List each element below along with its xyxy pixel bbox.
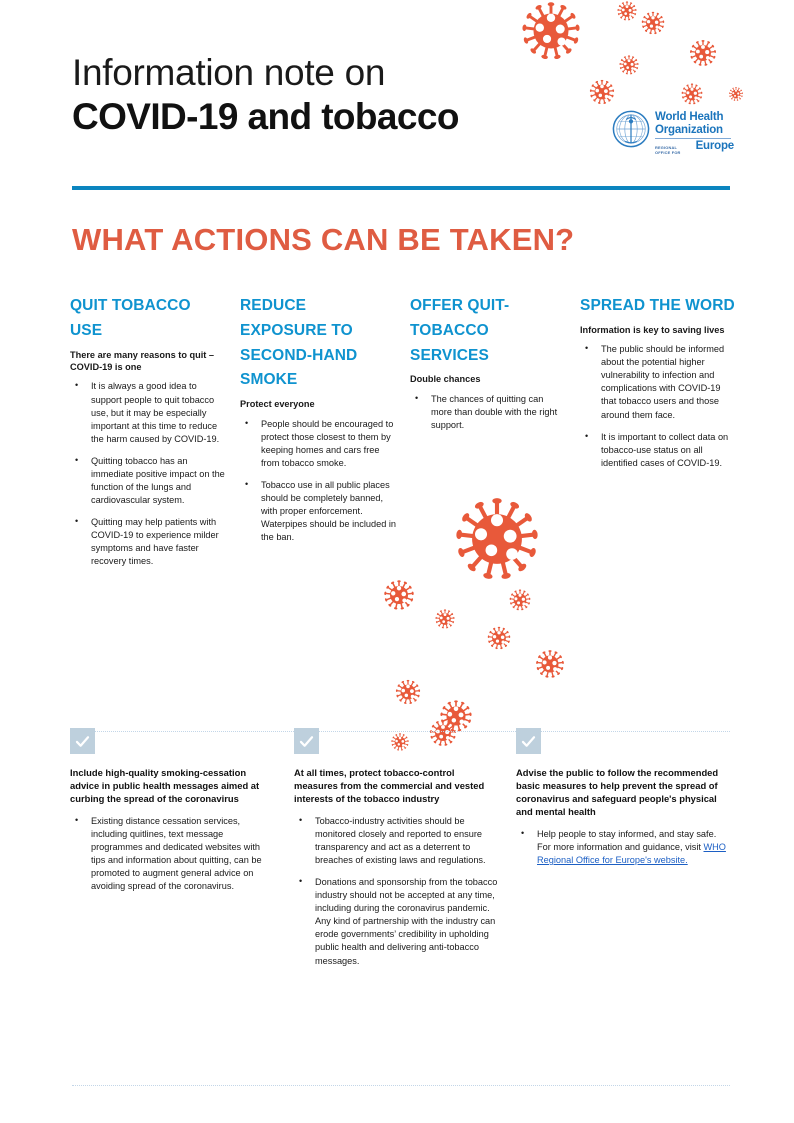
coronavirus-icon [616,0,638,22]
bullet-text-before: Help people to stay informed, and stay s… [537,829,716,852]
topic-heading: QUIT TOBACCO USE [70,294,226,344]
topic-column-reduce-exposure: REDUCE EXPOSURE TO SECOND-HAND SMOKE Pro… [240,294,410,577]
who-divider [655,138,731,139]
topic-column-offer-quit-services: OFFER QUIT-TOBACCO SERVICES Double chanc… [410,294,580,577]
coronavirus-icon [394,678,422,706]
action-heading: Include high-quality smoking-cessation a… [70,767,276,806]
topic-subheading: There are many reasons to quit – COVID-1… [70,349,226,374]
topic-bullet-list: People should be encouraged to protect t… [240,418,396,545]
who-emblem-icon [612,110,650,148]
title-line-1: Information note on [72,52,732,94]
list-item: Tobacco use in all public places should … [240,479,396,544]
topic-subheading: Information is key to saving lives [580,324,736,336]
check-icon [516,728,541,754]
list-item: The public should be informed about the … [580,343,736,421]
topic-subheading: Protect everyone [240,398,396,410]
topic-column-quit-tobacco-use: QUIT TOBACCO USE There are many reasons … [70,294,240,577]
topic-columns: QUIT TOBACCO USE There are many reasons … [70,294,750,577]
section-divider-bottom [72,1085,730,1086]
list-item: Existing distance cessation services, in… [70,815,276,893]
topic-heading: OFFER QUIT-TOBACCO SERVICES [410,294,566,368]
list-item: Quitting may help patients with COVID-19… [70,516,226,568]
list-item: Donations and sponsorship from the tobac… [294,876,498,967]
coronavirus-icon [486,625,512,651]
list-item: The chances of quitting can more than do… [410,393,566,432]
coronavirus-icon [434,608,456,630]
who-europe-label: Europe [696,140,734,152]
action-bullet-list: Help people to stay informed, and stay s… [516,828,732,867]
who-logo-text: World Health Organization REGIONAL OFFIC… [655,110,734,155]
who-line-2: Organization [655,124,734,137]
section-title: WHAT ACTIONS CAN BE TAKEN? [72,222,752,258]
coronavirus-icon [640,10,666,36]
topic-subheading: Double chances [410,373,566,385]
who-regional-label: REGIONAL OFFICE FOR [655,145,693,155]
check-icon [294,728,319,754]
list-item: People should be encouraged to protect t… [240,418,396,470]
action-bullet-list: Tobacco-industry activities should be mo… [294,815,498,968]
action-heading: Advise the public to follow the recommen… [516,767,732,819]
topic-bullet-list: The chances of quitting can more than do… [410,393,566,432]
topic-heading: SPREAD THE WORD [580,294,736,319]
topic-column-spread-the-word: SPREAD THE WORD Information is key to sa… [580,294,750,577]
list-item: It is important to collect data on tobac… [580,431,736,470]
topic-bullet-list: It is always a good idea to support peop… [70,380,226,568]
list-item: It is always a good idea to support peop… [70,380,226,445]
topic-bullet-list: The public should be informed about the … [580,343,736,470]
coronavirus-icon [508,588,532,612]
action-block-protect-tobacco-control: At all times, protect tobacco-control me… [294,728,516,977]
action-block-cessation-advice: Include high-quality smoking-cessation a… [70,728,294,977]
header-divider [72,186,730,190]
action-heading: At all times, protect tobacco-control me… [294,767,498,806]
list-item: Help people to stay informed, and stay s… [516,828,732,867]
coronavirus-icon [382,578,416,612]
list-item: Tobacco-industry activities should be mo… [294,815,498,867]
topic-heading: REDUCE EXPOSURE TO SECOND-HAND SMOKE [240,294,396,393]
who-logo: World Health Organization REGIONAL OFFIC… [612,110,734,158]
page-root: Information note on COVID-19 and tobacco… [0,0,794,1123]
list-item: Quitting tobacco has an immediate positi… [70,455,226,507]
action-bullet-list: Existing distance cessation services, in… [70,815,276,893]
check-icon [70,728,95,754]
action-blocks: Include high-quality smoking-cessation a… [70,728,750,977]
coronavirus-icon [534,648,566,680]
action-block-advise-public: Advise the public to follow the recommen… [516,728,750,977]
who-line-1: World Health [655,111,734,124]
